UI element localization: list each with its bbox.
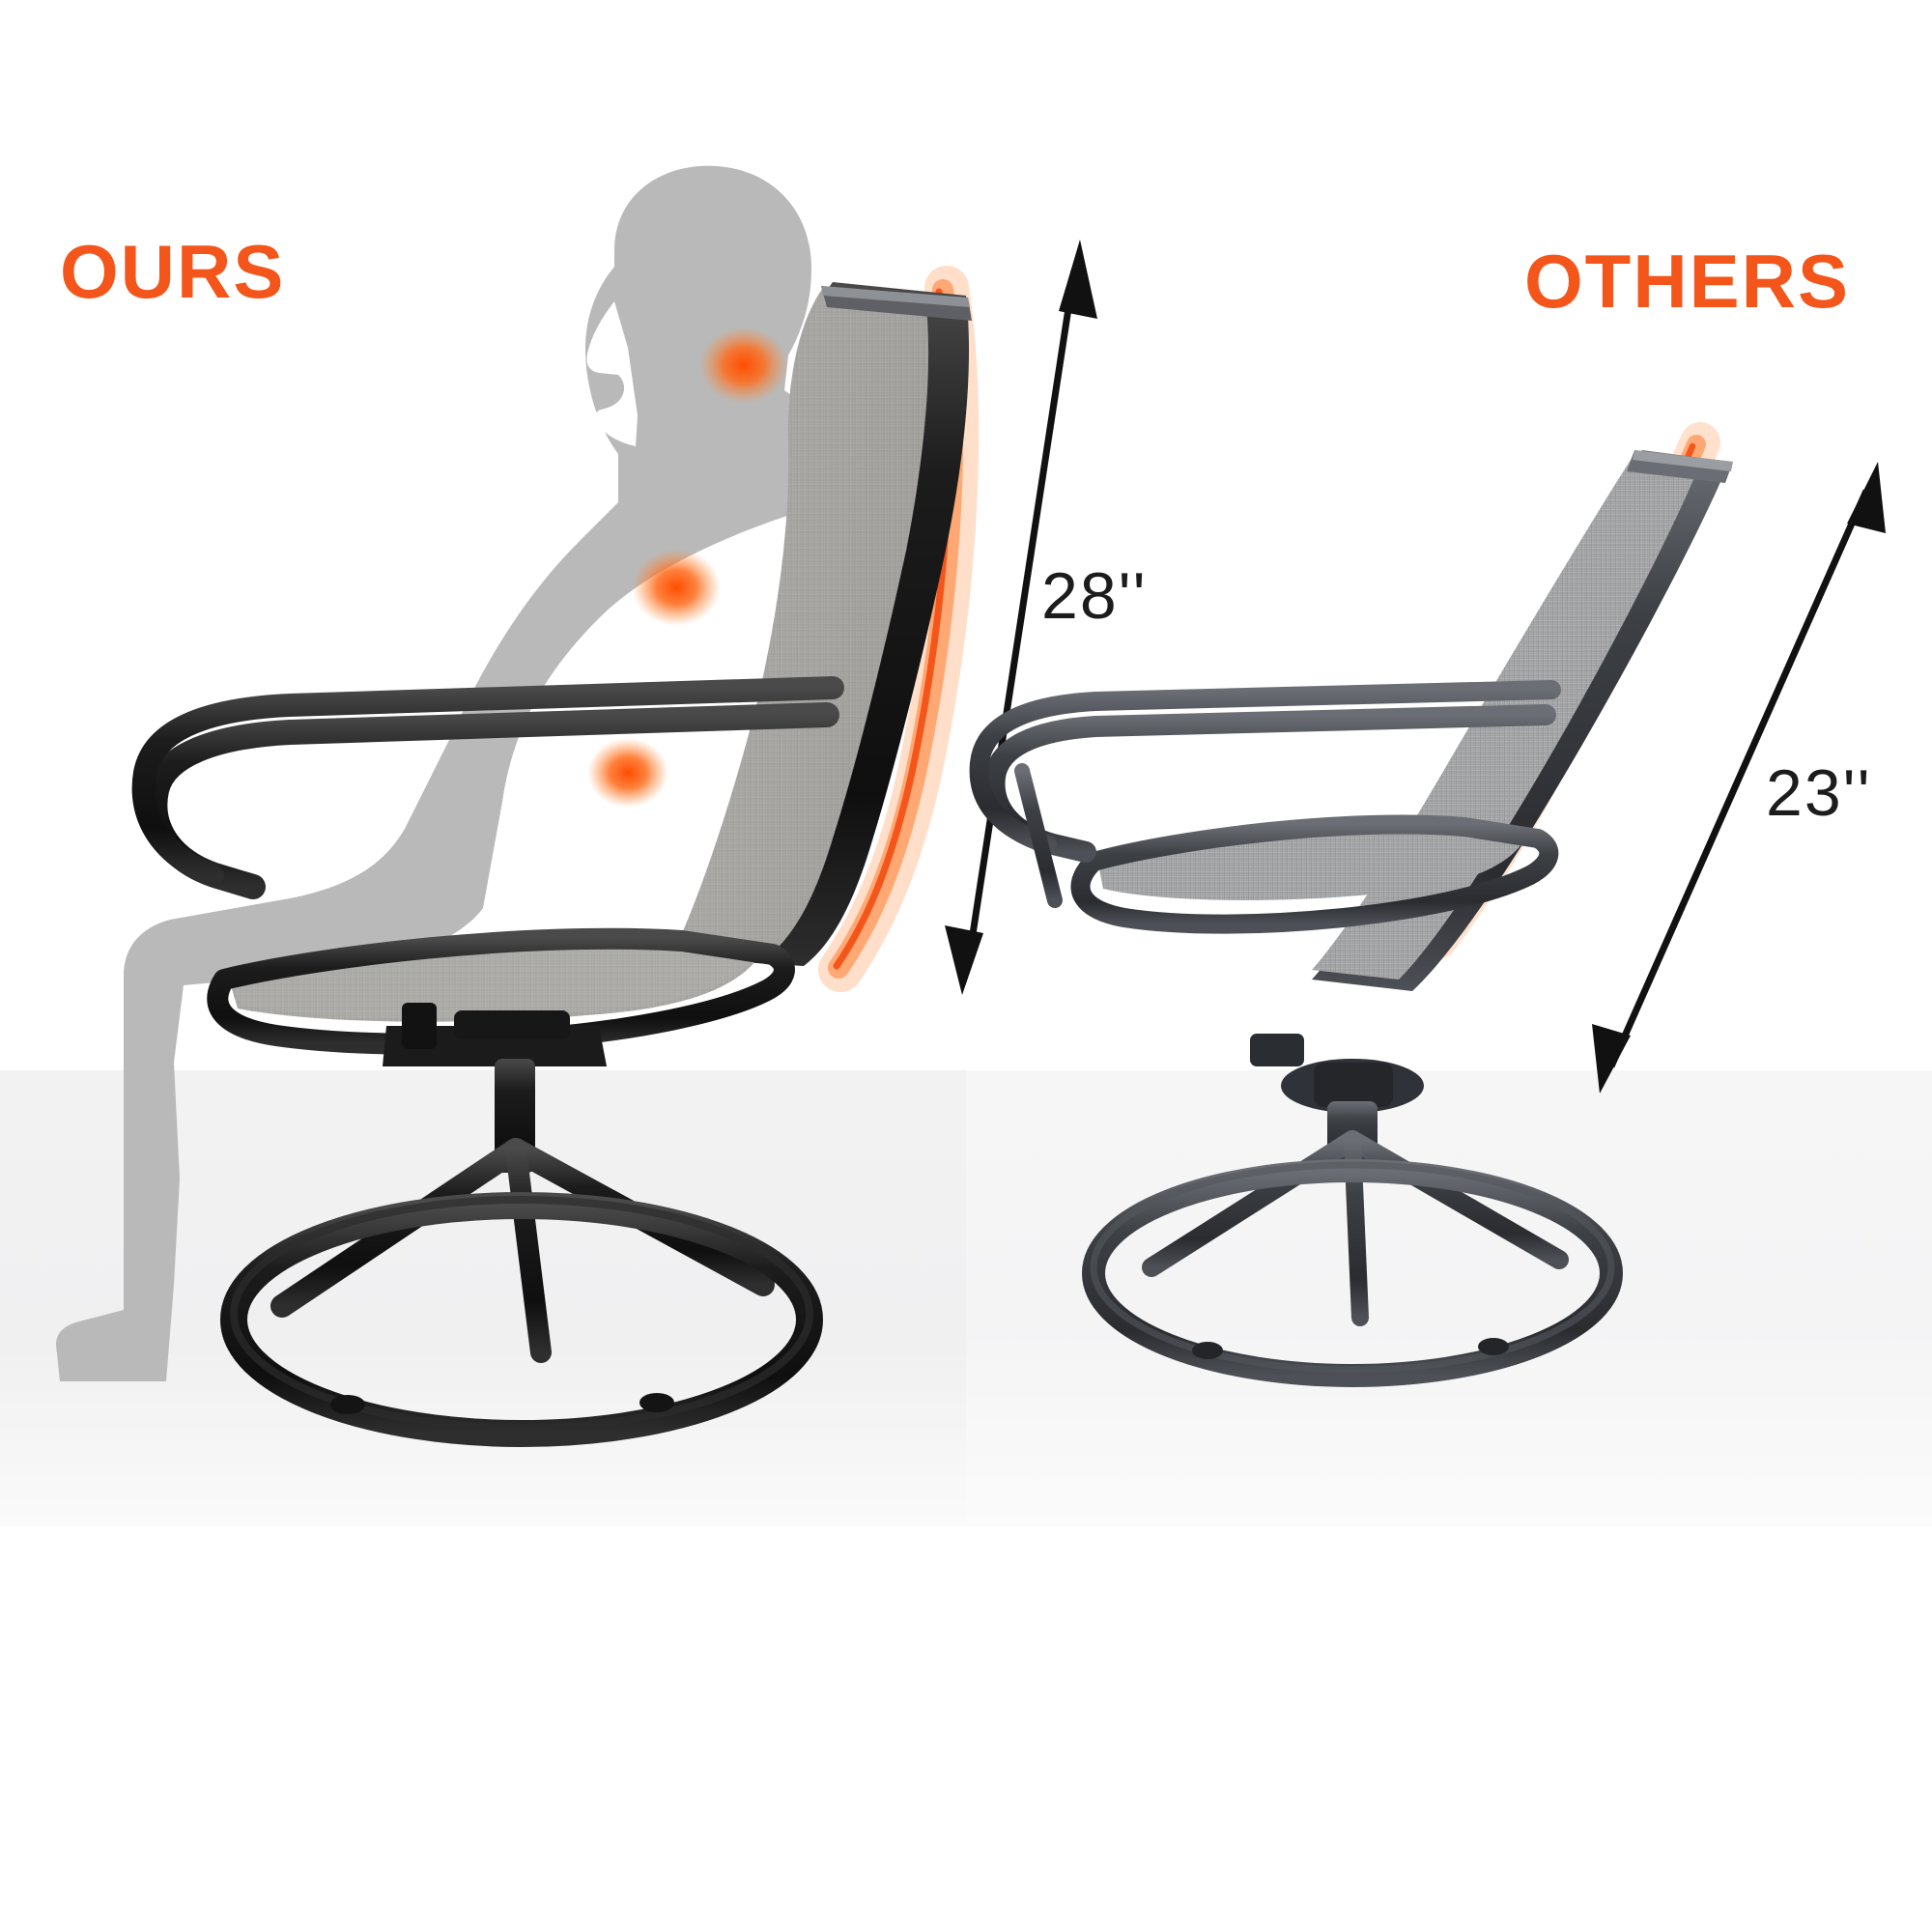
dimension-value-others: 23'': [1766, 755, 1872, 831]
dimension-value-ours: 28'': [1041, 558, 1148, 634]
label-ours: OURS: [60, 234, 285, 309]
comparison-infographic: OURS OTHERS 28'' 23'' Ergonomic high bac…: [0, 0, 1932, 1932]
label-others: OTHERS: [1524, 243, 1850, 319]
caption-strip: Ergonomic high back VS Straight low back: [0, 1526, 1932, 1932]
product-comparison-stage: OURS OTHERS 28'' 23'': [0, 0, 1932, 1526]
dimension-arrow-others: [0, 0, 1932, 1526]
